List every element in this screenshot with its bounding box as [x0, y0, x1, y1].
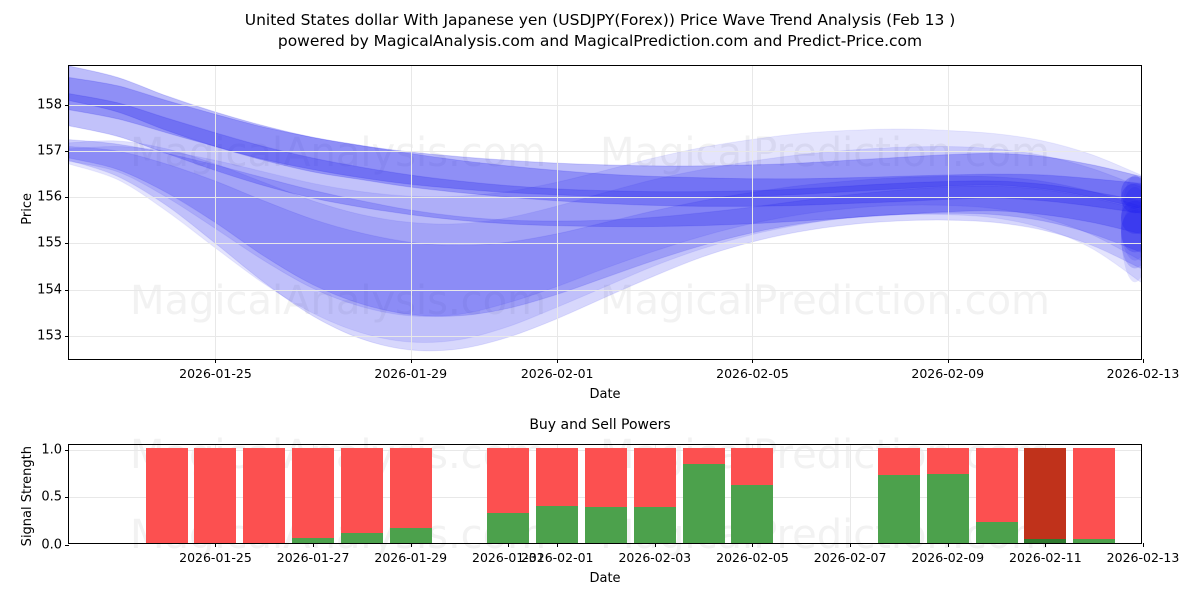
y-tick-label: 158 [37, 98, 62, 113]
x-tick-label: 2026-02-07 [814, 550, 887, 565]
x-tick-label: 2026-02-05 [716, 366, 789, 381]
y-tick-label: 1.0 [41, 442, 62, 457]
x-tick-mark [655, 543, 656, 547]
sell-power-segment [731, 448, 773, 485]
y-tick-mark [65, 336, 69, 337]
y-tick-mark [65, 243, 69, 244]
y-tick-mark [65, 197, 69, 198]
x-tick-label: 2026-01-29 [374, 366, 447, 381]
gridline-horizontal [69, 290, 1141, 291]
x-tick-mark [752, 359, 753, 363]
x-tick-label: 2026-02-09 [911, 366, 984, 381]
table-row[interactable] [585, 445, 627, 543]
x-tick-label: 2026-02-03 [618, 550, 691, 565]
x-tick-label: 2026-02-01 [521, 366, 594, 381]
x-tick-mark [557, 543, 558, 547]
sell-power-segment [878, 448, 920, 476]
table-row[interactable] [1073, 445, 1115, 543]
gridline-horizontal [69, 151, 1141, 152]
buy-power-segment [487, 513, 529, 543]
x-tick-label: 2026-02-13 [1107, 550, 1180, 565]
buy-power-segment [683, 464, 725, 543]
x-tick-label: 2026-01-29 [374, 550, 447, 565]
buy-power-segment [1073, 539, 1115, 543]
table-row[interactable] [194, 445, 236, 543]
table-row[interactable] [731, 445, 773, 543]
sell-power-segment [146, 448, 188, 543]
x-tick-mark [948, 359, 949, 363]
buy-power-segment [634, 507, 676, 543]
y-tick-mark [65, 450, 69, 451]
chart-title-line-2: powered by MagicalAnalysis.com and Magic… [0, 31, 1200, 52]
y-tick-mark [65, 290, 69, 291]
power-chart-x-axis-label: Date [589, 571, 620, 586]
sell-power-segment [390, 448, 432, 528]
x-tick-mark [850, 543, 851, 547]
chart-title-line-1: United States dollar With Japanese yen (… [0, 10, 1200, 31]
table-row[interactable] [683, 445, 725, 543]
x-tick-mark [1143, 543, 1144, 547]
buy-power-segment [976, 522, 1018, 543]
y-tick-label: 157 [37, 144, 62, 159]
x-tick-mark [313, 543, 314, 547]
x-tick-label: 2026-02-13 [1107, 366, 1180, 381]
price-chart-x-axis-label: Date [589, 387, 620, 402]
sell-power-segment [243, 448, 285, 543]
gridline-horizontal [69, 336, 1141, 337]
x-tick-label: 2026-01-25 [179, 366, 252, 381]
table-row[interactable] [536, 445, 578, 543]
y-tick-label: 155 [37, 236, 62, 251]
sell-power-segment [292, 448, 334, 538]
buy-power-segment [536, 506, 578, 543]
sell-power-segment [341, 448, 383, 533]
power-chart-y-axis-label: Signal Strength [20, 446, 35, 546]
x-tick-label: 2026-01-27 [277, 550, 350, 565]
x-tick-mark [508, 543, 509, 547]
table-row[interactable] [341, 445, 383, 543]
table-row[interactable] [1024, 445, 1066, 543]
y-tick-label: 156 [37, 190, 62, 205]
gridline-horizontal [69, 105, 1141, 106]
x-tick-mark [411, 359, 412, 363]
y-tick-mark [65, 497, 69, 498]
y-tick-label: 154 [37, 282, 62, 297]
table-row[interactable] [243, 445, 285, 543]
y-tick-label: 0.5 [41, 490, 62, 505]
sell-power-segment [1073, 448, 1115, 539]
y-tick-mark [65, 105, 69, 106]
y-tick-mark [65, 151, 69, 152]
gridline-vertical [850, 445, 851, 543]
x-tick-label: 2026-01-25 [179, 550, 252, 565]
sell-power-segment [634, 448, 676, 507]
table-row[interactable] [292, 445, 334, 543]
y-tick-mark [65, 545, 69, 546]
x-tick-label: 2026-02-01 [521, 550, 594, 565]
gridline-vertical [557, 66, 558, 359]
x-tick-mark [215, 543, 216, 547]
x-tick-label: 2026-02-05 [716, 550, 789, 565]
sell-power-segment [683, 448, 725, 464]
buy-power-segment [585, 507, 627, 543]
sell-power-segment [536, 448, 578, 506]
sell-power-segment [1024, 448, 1066, 539]
x-tick-mark [557, 359, 558, 363]
wave-band-svg [69, 66, 1141, 359]
power-chart-clip [69, 445, 1141, 543]
table-row[interactable] [487, 445, 529, 543]
gridline-vertical [948, 66, 949, 359]
buy-power-segment [927, 474, 969, 543]
table-row[interactable] [146, 445, 188, 543]
x-tick-mark [948, 543, 949, 547]
buy-power-segment [878, 475, 920, 543]
table-row[interactable] [634, 445, 676, 543]
buy-power-segment [341, 533, 383, 543]
price-chart-plot-area: 153154155156157158 2026-01-252026-01-292… [68, 65, 1142, 360]
table-row[interactable] [976, 445, 1018, 543]
buy-power-segment [731, 485, 773, 543]
y-tick-label: 153 [37, 328, 62, 343]
y-tick-label: 0.0 [41, 538, 62, 553]
sell-power-segment [927, 448, 969, 475]
x-tick-mark [1143, 359, 1144, 363]
x-tick-label: 2026-02-09 [911, 550, 984, 565]
gridline-vertical [411, 66, 412, 359]
price-chart-clip [69, 66, 1141, 359]
chart-title: United States dollar With Japanese yen (… [0, 10, 1200, 52]
x-tick-mark [752, 543, 753, 547]
sell-power-segment [487, 448, 529, 513]
power-chart-plot-area: 0.00.51.0 2026-01-252026-01-272026-01-29… [68, 444, 1142, 544]
price-chart-y-axis-label: Price [20, 193, 35, 225]
x-tick-label: 2026-02-11 [1009, 550, 1082, 565]
sell-power-segment [194, 448, 236, 543]
x-tick-mark [215, 359, 216, 363]
price-wave-bands [69, 66, 1141, 359]
x-tick-mark [411, 543, 412, 547]
x-tick-mark [1045, 543, 1046, 547]
sell-power-segment [585, 448, 627, 507]
gridline-vertical [752, 66, 753, 359]
table-row[interactable] [390, 445, 432, 543]
buy-power-segment [390, 528, 432, 543]
power-chart-title: Buy and Sell Powers [0, 417, 1200, 433]
sell-power-segment [976, 448, 1018, 522]
gridline-horizontal [69, 243, 1141, 244]
table-row[interactable] [878, 445, 920, 543]
gridline-horizontal [69, 197, 1141, 198]
table-row[interactable] [927, 445, 969, 543]
gridline-vertical [215, 66, 216, 359]
